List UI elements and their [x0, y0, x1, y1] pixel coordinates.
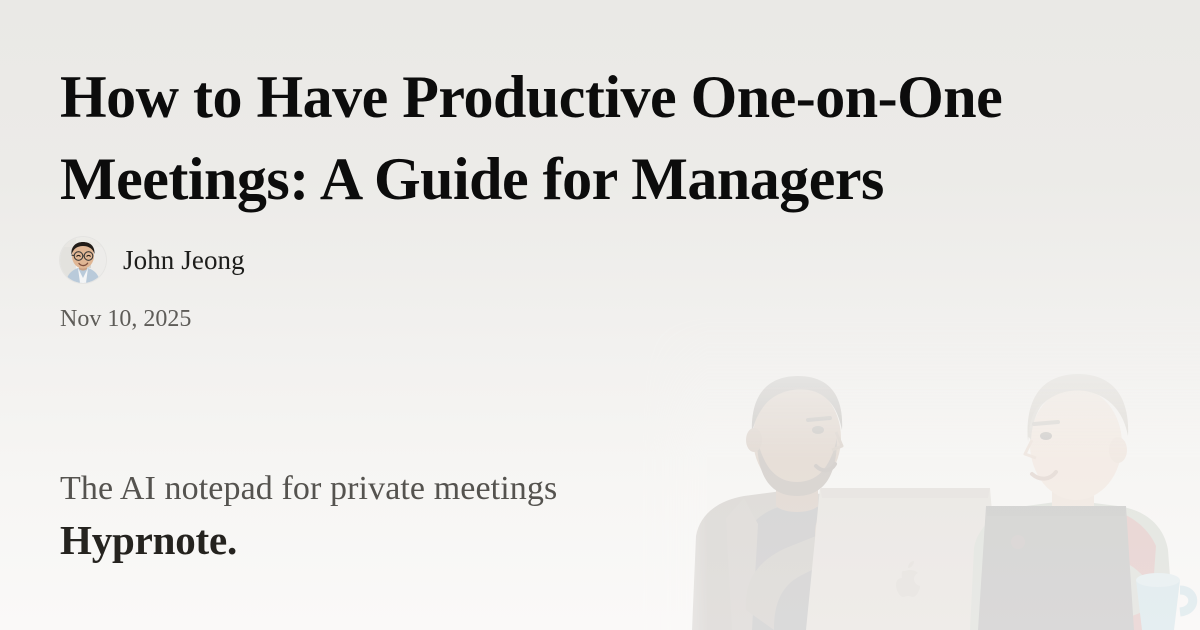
published-date: Nov 10, 2025	[60, 307, 191, 331]
coffee-mug	[1136, 573, 1193, 630]
laptop-silver	[806, 488, 1002, 630]
hand-right	[871, 502, 949, 584]
hand-left	[815, 506, 876, 586]
brand-name: Hyprnote.	[60, 514, 557, 566]
person-left-gesturing	[692, 376, 949, 630]
avatar	[60, 237, 106, 283]
author-name: John Jeong	[123, 247, 245, 274]
page-title: How to Have Productive One-on-One Meetin…	[60, 56, 1150, 220]
author-byline: John Jeong	[60, 237, 245, 283]
person-right-listening	[970, 374, 1174, 630]
meeting-photo	[640, 310, 1200, 630]
og-share-card: How to Have Productive One-on-One Meetin…	[0, 0, 1200, 630]
brand-tagline: The AI notepad for private meetings	[60, 466, 557, 512]
brand-block: The AI notepad for private meetings Hypr…	[60, 466, 557, 566]
laptop-black	[978, 506, 1134, 630]
